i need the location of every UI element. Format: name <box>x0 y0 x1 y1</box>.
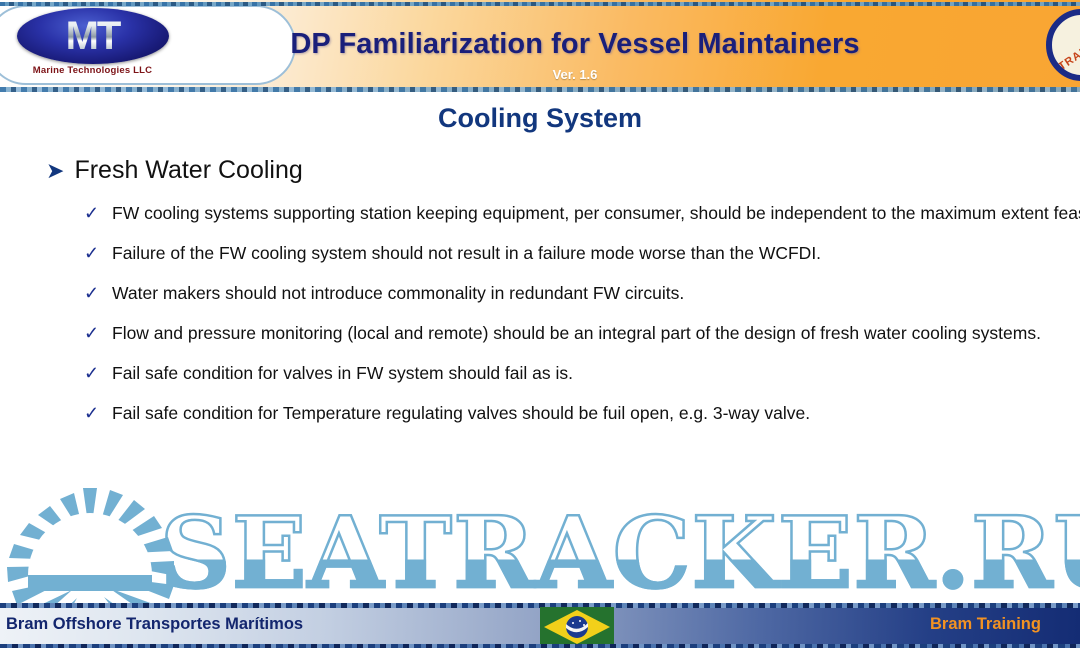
footer-training-label: Bram Training <box>930 615 1041 634</box>
training-seal-badge: TRAINING <box>1046 9 1080 81</box>
list-item-label: Water makers should not introduce common… <box>112 279 1080 308</box>
bullet-list: ✓ FW cooling systems supporting station … <box>78 199 1080 439</box>
list-item: ✓ Fail safe condition for Temperature re… <box>78 399 1080 428</box>
presentation-slide: MT Marine Technologies LLC DP Familiariz… <box>0 0 1080 648</box>
check-icon: ✓ <box>84 319 99 348</box>
slide-title: Cooling System <box>0 103 1080 134</box>
marine-technologies-logo: MT Marine Technologies LLC <box>10 8 175 86</box>
header-bottom-divider <box>0 87 1080 92</box>
slide-footer: Bram Offshore Transportes Marítimos Bram… <box>0 603 1080 648</box>
logo-company-name: Marine Technologies LLC <box>10 65 175 76</box>
list-item: ✓ Flow and pressure monitoring (local an… <box>78 319 1080 348</box>
check-icon: ✓ <box>84 279 99 308</box>
brazil-flag-icon <box>540 607 614 647</box>
section-heading: ➤ Fresh Water Cooling <box>46 157 303 185</box>
header-top-divider <box>0 2 1080 6</box>
list-item-label: Fail safe condition for Temperature regu… <box>112 399 1080 428</box>
check-icon: ✓ <box>84 399 99 428</box>
version-label: Ver. 1.6 <box>190 67 960 82</box>
list-item: ✓ Water makers should not introduce comm… <box>78 279 1080 308</box>
slide-header: MT Marine Technologies LLC DP Familiariz… <box>0 0 1080 92</box>
list-item-label: Fail safe condition for valves in FW sys… <box>112 359 1080 388</box>
training-seal-text: TRAINING <box>1053 26 1080 75</box>
watermark-text: SEATRACKER.RU <box>160 500 1080 608</box>
list-item-label: Failure of the FW cooling system should … <box>112 239 1080 268</box>
list-item: ✓ Fail safe condition for valves in FW s… <box>78 359 1080 388</box>
footer-bottom-divider <box>0 644 1080 648</box>
right-arrow-icon: ➤ <box>46 160 64 182</box>
check-icon: ✓ <box>84 359 99 388</box>
check-icon: ✓ <box>84 239 99 268</box>
list-item-label: FW cooling systems supporting station ke… <box>112 199 1080 228</box>
presentation-title: DP Familiarization for Vessel Maintainer… <box>190 28 960 61</box>
list-item-label: Flow and pressure monitoring (local and … <box>112 319 1080 348</box>
list-item: ✓ Failure of the FW cooling system shoul… <box>78 239 1080 268</box>
logo-ellipse-shape: MT <box>17 8 169 64</box>
footer-company-label: Bram Offshore Transportes Marítimos <box>6 615 303 634</box>
section-heading-label: Fresh Water Cooling <box>74 157 302 185</box>
list-item: ✓ FW cooling systems supporting station … <box>78 199 1080 228</box>
check-icon: ✓ <box>84 199 99 228</box>
logo-monogram: MT <box>17 12 169 60</box>
